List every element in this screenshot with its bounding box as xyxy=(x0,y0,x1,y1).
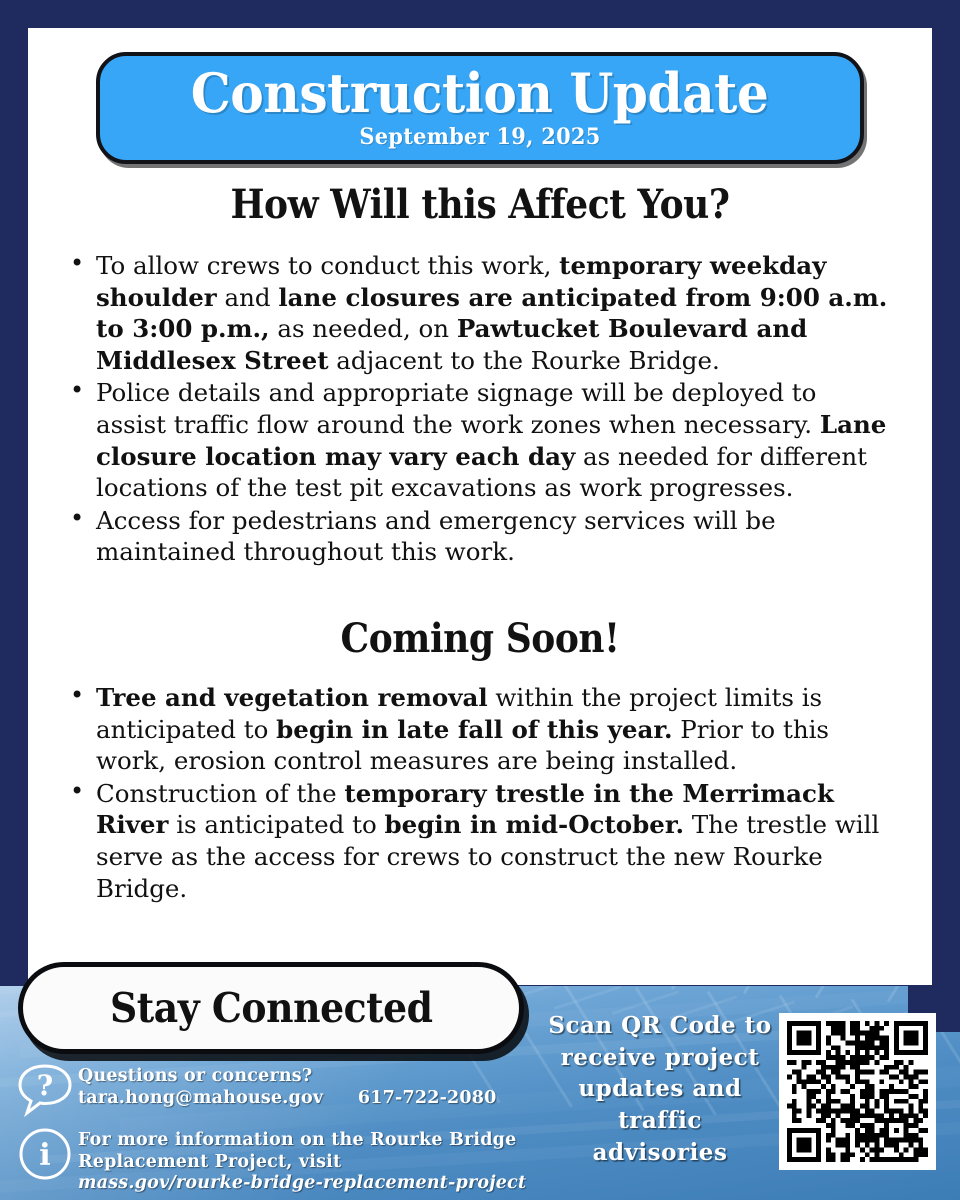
list-item: To allow crews to conduct this work, tem… xyxy=(62,250,892,376)
stay-connected-pill: Stay Connected xyxy=(18,962,524,1054)
section-heading-coming-soon: Coming Soon! xyxy=(73,618,887,660)
scan-qr-instructions: Scan QR Code to receive project updates … xyxy=(548,1010,772,1169)
header-date: September 19, 2025 xyxy=(359,124,600,150)
emphasis-text: begin in late fall of this year. xyxy=(276,715,672,744)
qr-code-image xyxy=(787,1021,928,1162)
list-item: Access for pedestrians and emergency ser… xyxy=(62,505,892,568)
project-website-url[interactable]: mass.gov/rourke-bridge-replacement-proje… xyxy=(78,1173,526,1195)
flyer-page: Construction Update September 19, 2025 H… xyxy=(0,0,960,1200)
contact-row-more-info: i For more information on the Rourke Bri… xyxy=(16,1126,576,1195)
body-text: Access for pedestrians and emergency ser… xyxy=(96,506,776,567)
list-item: Tree and vegetation removal within the p… xyxy=(62,682,892,777)
questions-label: Questions or concerns? xyxy=(78,1066,497,1088)
body-text: Construction of the xyxy=(96,779,344,808)
body-text: as needed, on xyxy=(270,314,457,343)
emphasis-text: Tree and vegetation removal xyxy=(96,683,488,712)
contact-more-info-text: For more information on the Rourke Bridg… xyxy=(78,1126,526,1195)
list-item: Construction of the temporary trestle in… xyxy=(62,778,892,904)
contact-email-phone-line: tara.hong@mahouse.gov 617-722-2080 xyxy=(78,1088,497,1110)
contact-block: ? Questions or concerns? tara.hong@mahou… xyxy=(16,1062,576,1200)
stay-connected-label: Stay Connected xyxy=(110,984,433,1032)
section-heading-affect: How Will this Affect You? xyxy=(73,184,887,226)
contact-phone[interactable]: 617-722-2080 xyxy=(358,1088,497,1108)
list-item: Police details and appropriate signage w… xyxy=(62,377,892,503)
page-title: Construction Update xyxy=(191,66,769,120)
body-text: adjacent to the Rourke Bridge. xyxy=(329,346,720,375)
body-text: Police details and appropriate signage w… xyxy=(96,378,820,439)
header-badge: Construction Update September 19, 2025 xyxy=(96,52,864,164)
bullet-list-coming-soon: Tree and vegetation removal within the p… xyxy=(62,682,892,905)
info-circle-icon: i xyxy=(16,1126,78,1184)
svg-text:?: ? xyxy=(37,1069,53,1102)
contact-email[interactable]: tara.hong@mahouse.gov xyxy=(78,1088,323,1108)
question-speech-bubble-icon: ? xyxy=(16,1062,78,1120)
body-text: is anticipated to xyxy=(168,810,384,839)
body-text: To allow crews to conduct this work, xyxy=(96,251,559,280)
contact-questions-text: Questions or concerns? tara.hong@mahouse… xyxy=(78,1062,497,1109)
contact-row-questions: ? Questions or concerns? tara.hong@mahou… xyxy=(16,1062,576,1120)
emphasis-text: begin in mid-October. xyxy=(385,810,685,839)
more-info-line1: For more information on the Rourke Bridg… xyxy=(78,1130,526,1152)
qr-code[interactable] xyxy=(779,1013,936,1170)
more-info-line2: Replacement Project, visit xyxy=(78,1152,526,1174)
svg-text:i: i xyxy=(39,1138,50,1173)
body-text: and xyxy=(217,283,279,312)
bullet-list-affect: To allow crews to conduct this work, tem… xyxy=(62,250,892,569)
